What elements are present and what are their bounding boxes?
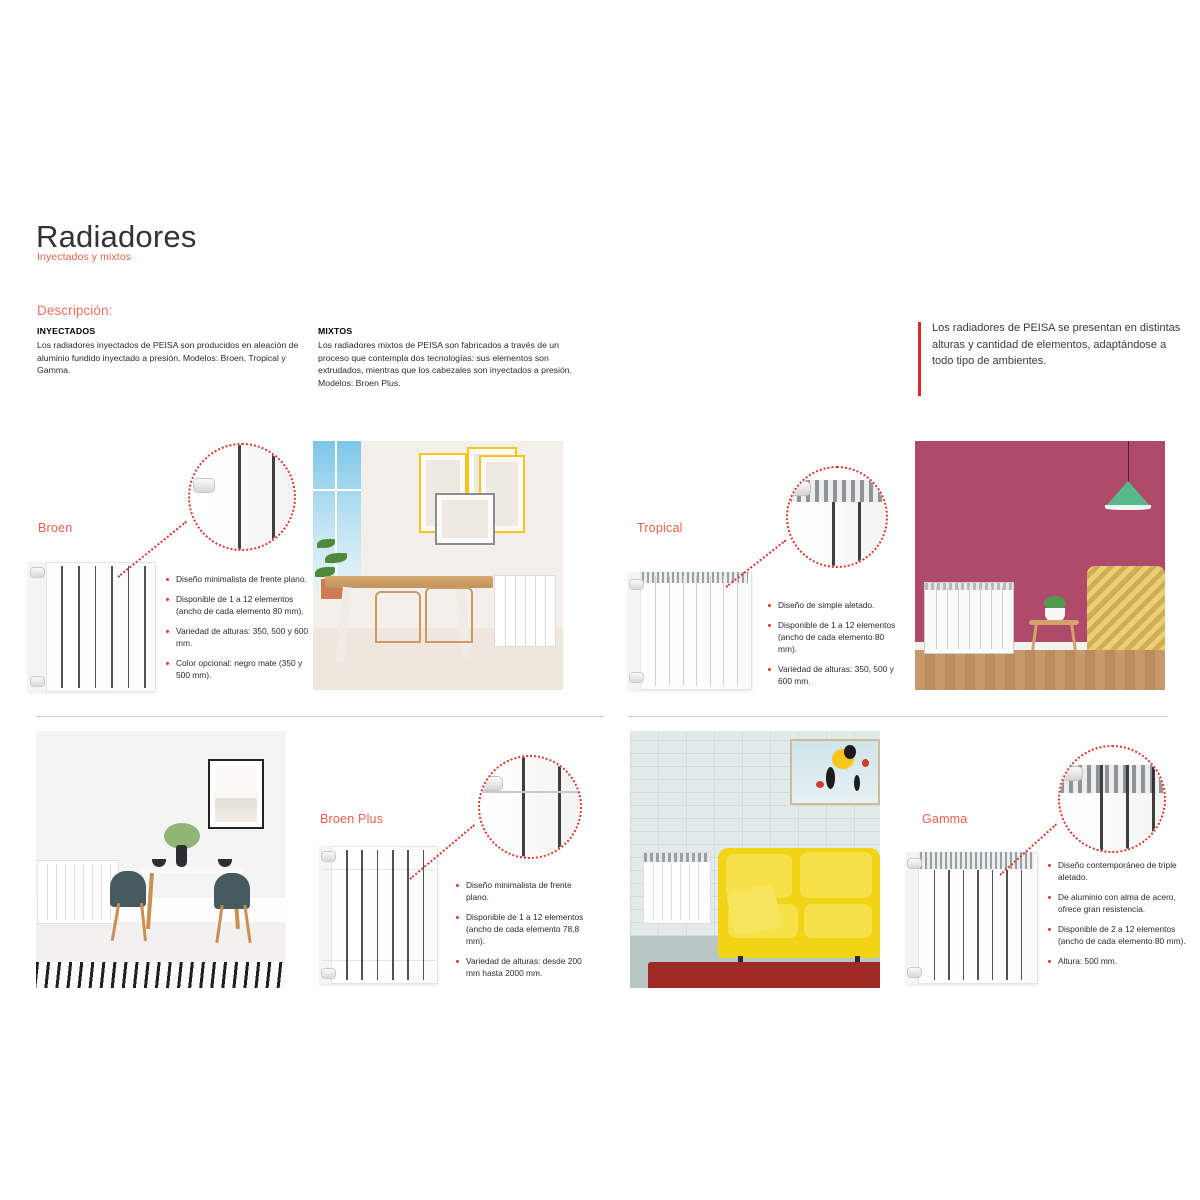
description-column-mixtos: MIXTOS Los radiadores mixtos de PEISA so… <box>318 325 588 390</box>
radiator-illustration-gamma <box>906 852 1038 984</box>
radiator-illustration-broen-plus <box>320 846 438 984</box>
description-column-inyectados: INYECTADOS Los radiadores inyectados de … <box>37 325 299 377</box>
divider-right <box>628 716 1168 717</box>
product-name-broen-plus: Broen Plus <box>320 812 383 826</box>
page-title: Radiadores <box>36 219 197 255</box>
description-label: Descripción: <box>37 303 112 318</box>
feature-list-tropical: Diseño de simple aletado. Disponible de … <box>768 600 898 688</box>
lifestyle-photo-broen-plus <box>36 731 286 988</box>
magnifier-circle-broen-plus <box>478 755 582 859</box>
feature-item: Diseño de simple aletado. <box>768 600 898 612</box>
feature-item: Disponible de 2 a 12 elementos (ancho de… <box>1048 924 1188 948</box>
leader-line-tropical <box>725 539 786 587</box>
catalog-page: Radiadores Inyectados y mixtos Descripci… <box>0 0 1200 1200</box>
magnifier-circle-tropical <box>786 466 888 568</box>
column-heading: INYECTADOS <box>37 325 299 338</box>
feature-list-broen: Diseño minimalista de frente plano. Disp… <box>166 574 314 681</box>
product-name-tropical: Tropical <box>637 521 683 535</box>
feature-item: Disponible de 1 a 12 elementos (ancho de… <box>768 620 898 656</box>
feature-item: Variedad de alturas: 350, 500 y 600 mm. <box>166 626 314 650</box>
pullquote-text: Los radiadores de PEISA se presentan en … <box>932 322 1180 367</box>
feature-list-gamma: Diseño contemporáneo de triple aletado. … <box>1048 860 1188 967</box>
radiator-illustration-tropical <box>628 572 752 690</box>
lifestyle-photo-tropical <box>915 441 1165 690</box>
column-body: Los radiadores inyectados de PEISA son p… <box>37 339 299 377</box>
column-body: Los radiadores mixtos de PEISA son fabri… <box>318 339 588 390</box>
magnifier-circle-broen <box>188 443 296 551</box>
product-name-gamma: Gamma <box>922 812 967 826</box>
magnifier-circle-gamma <box>1058 745 1166 853</box>
feature-item: De aluminio con alma de acero, ofrece gr… <box>1048 892 1188 916</box>
column-heading: MIXTOS <box>318 325 588 338</box>
pullquote-bar <box>918 322 921 396</box>
lifestyle-photo-broen <box>313 441 563 690</box>
pullquote: Los radiadores de PEISA se presentan en … <box>918 320 1182 370</box>
feature-item: Diseño minimalista de frente plano. <box>166 574 314 586</box>
radiator-illustration-broen <box>28 562 156 692</box>
feature-item: Disponible de 1 a 12 elementos (ancho de… <box>456 912 596 948</box>
feature-item: Altura: 500 mm. <box>1048 956 1188 968</box>
divider-left <box>36 716 604 717</box>
feature-item: Variedad de alturas: 350, 500 y 600 mm. <box>768 664 898 688</box>
feature-item: Diseño contemporáneo de triple aletado. <box>1048 860 1188 884</box>
feature-item: Disponible de 1 a 12 elementos (ancho de… <box>166 594 314 618</box>
page-subtitle: Inyectados y mixtos <box>37 251 131 263</box>
product-name-broen: Broen <box>38 521 72 535</box>
feature-item: Diseño minimalista de frente plano. <box>456 880 596 904</box>
feature-item: Color opcional: negro mate (350 y 500 mm… <box>166 658 314 682</box>
lifestyle-photo-gamma <box>630 731 880 988</box>
feature-item: Variedad de alturas: desde 200 mm hasta … <box>456 956 596 980</box>
feature-list-broen-plus: Diseño minimalista de frente plano. Disp… <box>456 880 596 979</box>
